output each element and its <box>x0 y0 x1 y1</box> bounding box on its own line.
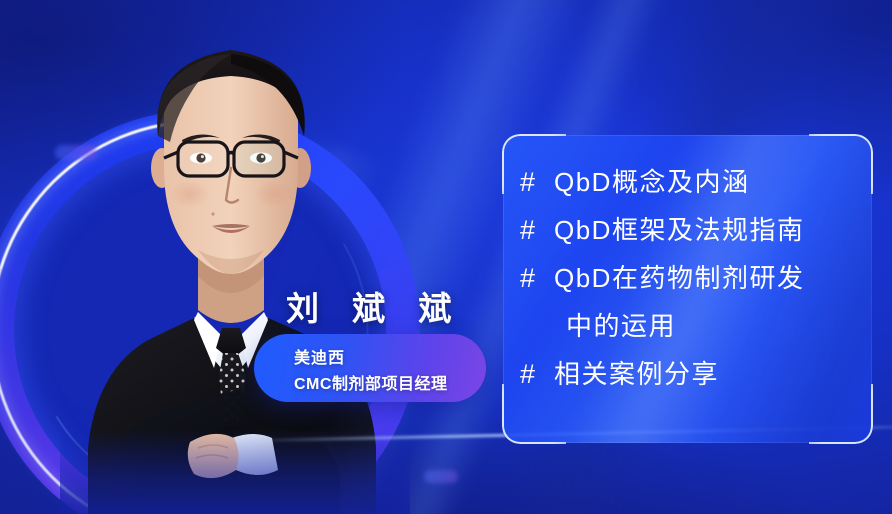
topic-item: # QbD在药物制剂研发 <box>520 254 862 302</box>
topic-item-continuation: # 中的运用 <box>520 302 862 350</box>
hash-icon: # <box>520 158 554 206</box>
decorative-pill <box>424 470 458 483</box>
topic-label: QbD概念及内涵 <box>554 158 749 206</box>
topic-item: # QbD框架及法规指南 <box>520 206 862 254</box>
hash-icon: # <box>520 254 554 302</box>
hash-icon: # <box>520 350 554 398</box>
topic-label: 相关案例分享 <box>554 350 719 398</box>
topic-label: 中的运用 <box>554 302 676 350</box>
speaker-company: 美迪西 <box>294 344 345 368</box>
topic-item: # QbD概念及内涵 <box>520 158 862 206</box>
topic-label: QbD框架及法规指南 <box>554 206 804 254</box>
topic-label: QbD在药物制剂研发 <box>554 254 804 302</box>
hash-icon: # <box>520 206 554 254</box>
speaker-role: CMC制剂部项目经理 <box>294 370 447 394</box>
topic-item: # 相关案例分享 <box>520 350 862 398</box>
topics-list: # QbD概念及内涵 # QbD框架及法规指南 # QbD在药物制剂研发 # 中… <box>520 158 862 398</box>
speaker-promo-banner: 刘 斌 斌 美迪西 CMC制剂部项目经理 # QbD概念及内涵 # QbD框架及… <box>0 0 892 514</box>
topics-panel: # QbD概念及内涵 # QbD框架及法规指南 # QbD在药物制剂研发 # 中… <box>503 135 872 443</box>
speaker-title-pill: 美迪西 CMC制剂部项目经理 <box>254 334 486 402</box>
speaker-name: 刘 斌 斌 <box>286 292 463 325</box>
